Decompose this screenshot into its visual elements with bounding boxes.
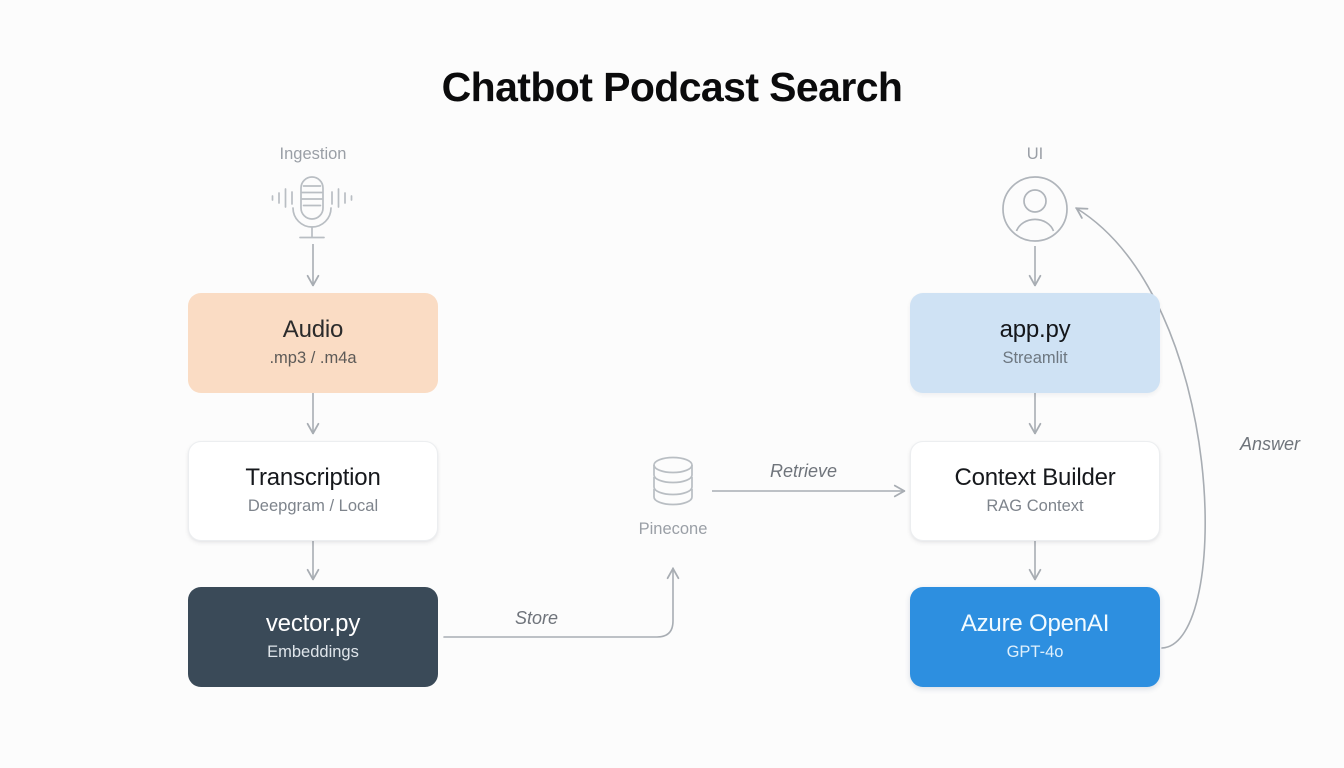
node-context-builder-title: Context Builder	[954, 465, 1115, 492]
node-audio[interactable]: Audio .mp3 / .m4a	[188, 293, 438, 393]
user-avatar-icon	[1000, 174, 1070, 244]
database-icon	[645, 455, 701, 507]
edge-label-answer: Answer	[1240, 434, 1300, 455]
edge-label-store: Store	[515, 608, 558, 629]
node-vector-py-title: vector.py	[266, 611, 360, 638]
node-azure-openai-title: Azure OpenAI	[961, 611, 1109, 638]
node-azure-openai-subtitle: GPT-4o	[1007, 642, 1064, 663]
datastore-label: Pinecone	[593, 520, 753, 539]
node-app-py-subtitle: Streamlit	[1002, 348, 1067, 369]
node-transcription-subtitle: Deepgram / Local	[248, 496, 378, 517]
node-audio-title: Audio	[283, 317, 343, 344]
page-title: Chatbot Podcast Search	[0, 64, 1344, 111]
edge-vector-to-pinecone	[444, 568, 673, 637]
node-vector-py[interactable]: vector.py Embeddings	[188, 587, 438, 687]
node-vector-py-subtitle: Embeddings	[267, 642, 359, 663]
node-transcription[interactable]: Transcription Deepgram / Local	[188, 441, 438, 541]
node-context-builder-subtitle: RAG Context	[986, 496, 1083, 517]
edge-azure-to-user	[1076, 208, 1205, 648]
group-caption-ingestion: Ingestion	[213, 145, 413, 164]
node-azure-openai[interactable]: Azure OpenAI GPT-4o	[910, 587, 1160, 687]
node-app-py[interactable]: app.py Streamlit	[910, 293, 1160, 393]
node-context-builder[interactable]: Context Builder RAG Context	[910, 441, 1160, 541]
node-audio-subtitle: .mp3 / .m4a	[269, 348, 356, 369]
diagram-canvas: Chatbot Podcast Search Ingestion UI	[0, 0, 1344, 768]
edge-label-retrieve: Retrieve	[770, 461, 837, 482]
node-app-py-title: app.py	[1000, 317, 1071, 344]
group-caption-ui: UI	[935, 145, 1135, 164]
node-transcription-title: Transcription	[245, 465, 380, 492]
microphone-icon	[262, 172, 362, 244]
